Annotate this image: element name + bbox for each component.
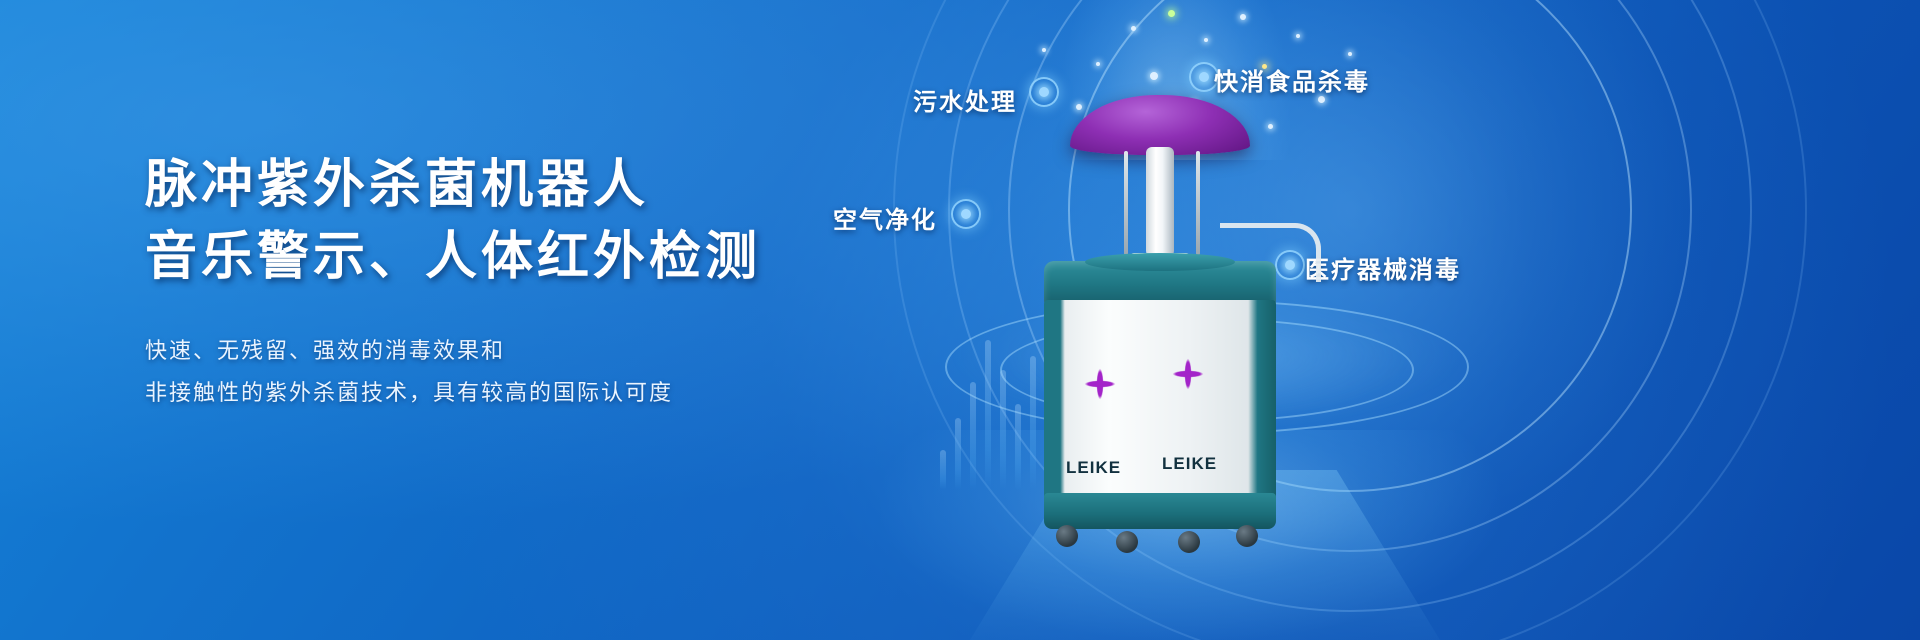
callout-label-medical: 医疗器械消毒: [1305, 250, 1461, 285]
callout-label-wastewater: 污水处理: [913, 82, 1017, 117]
caster-wheel-2: [1116, 531, 1138, 553]
cabinet-top: [1044, 261, 1276, 305]
callout-node-air[interactable]: [951, 199, 981, 229]
uv-lamp-tube: [1146, 147, 1174, 257]
caster-wheel-1: [1056, 525, 1078, 547]
subtitle-line-2: 非接触性的紫外杀菌技术，具有较高的国际认可度: [145, 372, 905, 415]
hero-banner: 污水处理 快消食品杀毒 空气净化 医疗器械消毒 LEIKE LEIKE 脉冲紫外…: [0, 0, 1920, 640]
sparkle-logo-left: [1078, 362, 1122, 406]
caster-wheel-3: [1178, 531, 1200, 553]
brand-label-right: LEIKE: [1162, 454, 1217, 474]
cabinet-base: [1044, 493, 1276, 529]
uv-lamp-dome: [1070, 95, 1250, 155]
uv-disinfection-robot: LEIKE LEIKE: [1020, 95, 1300, 515]
lamp-support-rod-left: [1124, 151, 1128, 255]
subtitle-line-1: 快速、无残留、强效的消毒效果和: [145, 330, 905, 373]
headline-line-2: 音乐警示、人体红外检测: [145, 222, 905, 294]
lamp-support-rod-right: [1196, 151, 1200, 255]
subtitle-block: 快速、无残留、强效的消毒效果和 非接触性的紫外杀菌技术，具有较高的国际认可度: [145, 330, 905, 416]
caster-wheel-4: [1236, 525, 1258, 547]
brand-label-left: LEIKE: [1066, 458, 1121, 478]
sparkle-logo-right: [1166, 352, 1210, 396]
cabinet-body: LEIKE LEIKE: [1044, 300, 1276, 500]
callout-label-food: 快消食品杀毒: [1214, 62, 1370, 97]
headline-line-1: 脉冲紫外杀菌机器人: [145, 150, 905, 222]
headline-block: 脉冲紫外杀菌机器人 音乐警示、人体红外检测 快速、无残留、强效的消毒效果和 非接…: [145, 150, 905, 415]
